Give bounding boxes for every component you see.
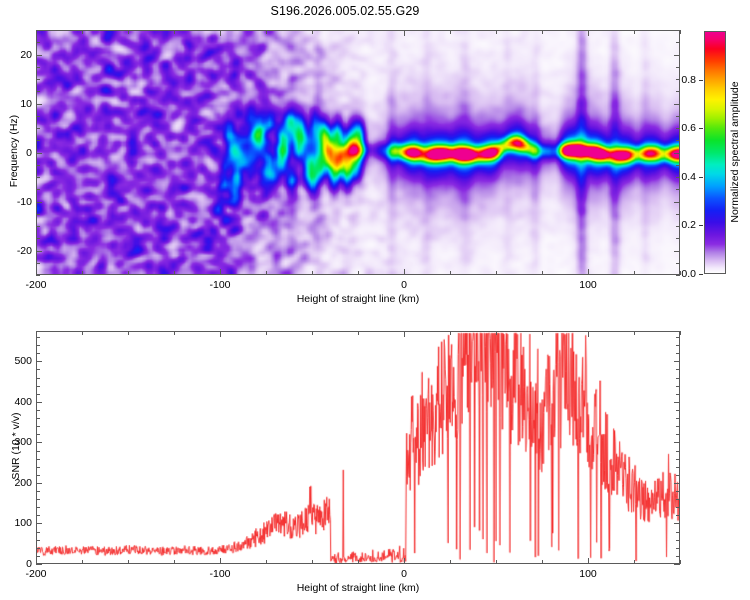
axis-tick-label: -100 [209,568,230,580]
axis-tick-label: 0 [401,279,407,291]
spectrogram-y-axis-label: Frequency (Hz) [8,101,20,201]
colorbar-gradient [704,31,726,274]
axis-tick [680,331,681,335]
axis-tick-label: 0 [2,558,32,570]
figure-title: S196.2026.005.02.55.G29 [0,4,690,18]
colorbar-tick [699,225,703,226]
axis-tick-label: 100 [579,568,597,580]
axis-tick-label: -200 [25,279,46,291]
axis-tick-label: -20 [8,245,32,257]
snr-canvas [37,332,679,563]
axis-tick-label: 20 [8,49,32,61]
axis-tick [680,271,681,275]
spectrogram-plot [36,30,680,275]
axis-tick-label: -100 [209,279,230,291]
axis-tick [674,564,680,565]
snr-x-axis-label: Height of straight line (km) [297,582,420,594]
snr-y-axis-label: SNR (10 * v/v) [10,396,22,496]
axis-tick-label: 500 [2,355,32,367]
spectrogram-x-axis-label: Height of straight line (km) [297,293,420,305]
colorbar-tick [699,177,703,178]
colorbar-tick [699,274,703,275]
figure-root: S196.2026.005.02.55.G29 -200-10001002010… [0,0,750,600]
axis-tick [680,30,681,34]
spectrogram-canvas [37,31,679,274]
axis-tick [676,275,680,276]
snr-plot [36,331,680,564]
axis-tick-label: 0 [401,568,407,580]
axis-tick-label: -200 [25,568,46,580]
colorbar-tick [699,128,703,129]
axis-tick-label: 100 [579,279,597,291]
colorbar-title: Normalized spectral amplitude [729,81,741,222]
axis-tick [36,564,42,565]
axis-tick [680,560,681,564]
axis-tick [36,275,40,276]
axis-tick-label: 100 [2,517,32,529]
colorbar-tick [699,80,703,81]
colorbar [704,31,726,274]
